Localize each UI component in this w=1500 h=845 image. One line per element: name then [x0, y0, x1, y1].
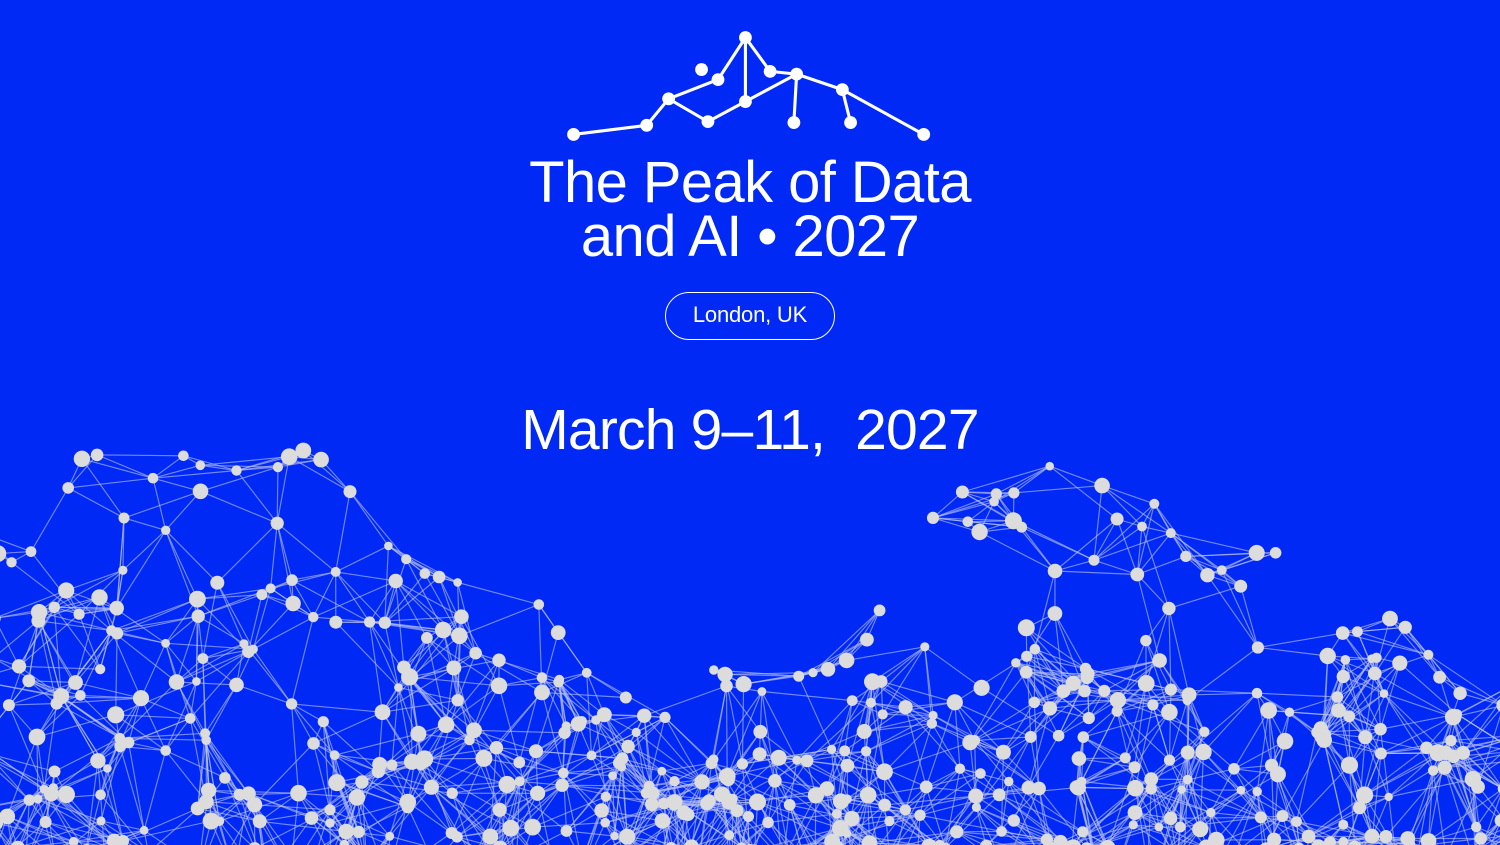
- peak-network-graph-icon: [540, 22, 960, 150]
- page-title: The Peak of Data and AI • 2027: [529, 156, 971, 264]
- event-poster: The Peak of Data and AI • 2027 London, U…: [0, 0, 1500, 845]
- location-badge: London, UK: [665, 292, 835, 340]
- title-line-1: The Peak of Data: [529, 156, 971, 210]
- event-date: March 9–11, 2027: [521, 402, 979, 459]
- badge-row: London, UK: [665, 292, 835, 340]
- poster-content: The Peak of Data and AI • 2027 London, U…: [0, 0, 1500, 845]
- title-line-2: and AI • 2027: [529, 210, 971, 264]
